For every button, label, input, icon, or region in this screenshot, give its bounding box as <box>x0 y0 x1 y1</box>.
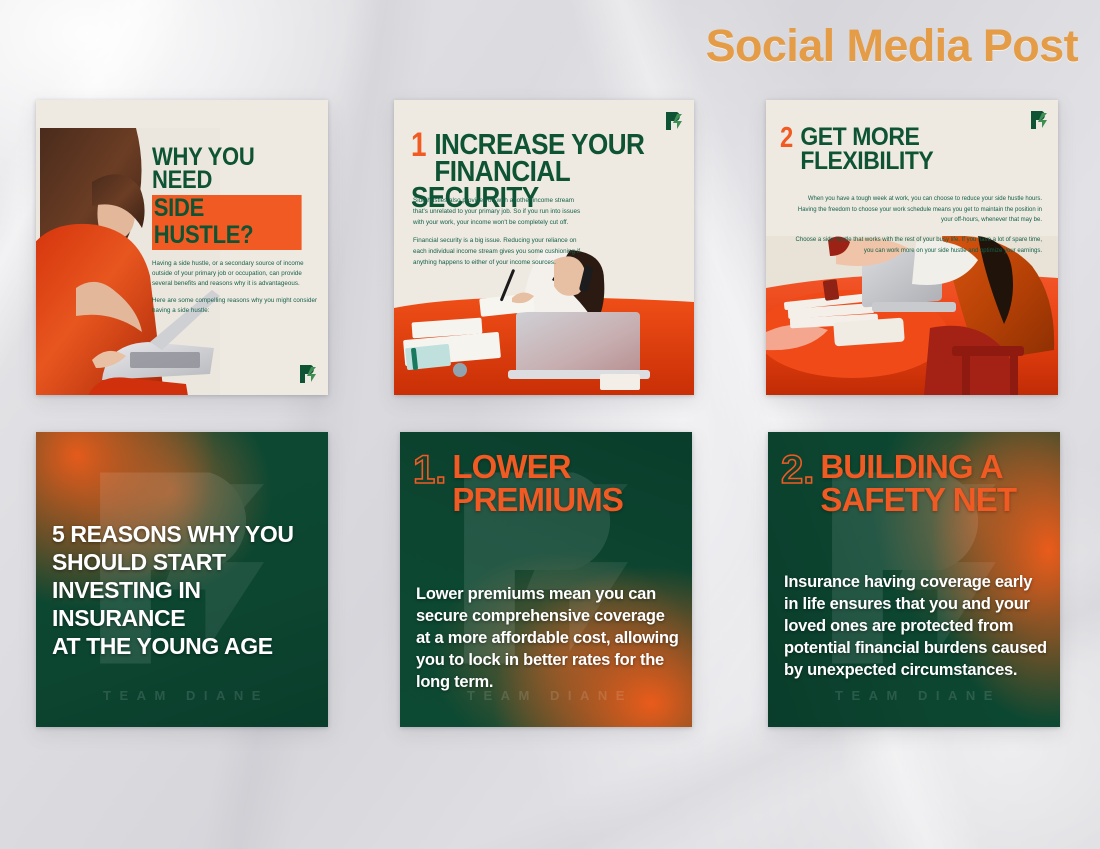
brand-watermark: TEAM DIANE <box>768 688 1060 703</box>
td-monogram-logo-icon <box>664 110 684 132</box>
heading-line-1: WHY YOU NEED <box>152 146 302 192</box>
card-title: LOWER PREMIUMS <box>413 450 680 516</box>
card-heading: WHY YOU NEED SIDE HUSTLE? Having a side … <box>152 146 322 316</box>
card-body: Lower premiums mean you can secure compr… <box>416 584 682 694</box>
heading-line-1: GET MORE FLEXIBILITY <box>780 126 1025 174</box>
body-paragraph: When you have a tough week at work, you … <box>792 194 1042 226</box>
body-paragraph: Having a side hustle, or a secondary sou… <box>152 259 322 289</box>
body-paragraph: Here are some compelling reasons why you… <box>152 296 322 316</box>
td-monogram-logo-icon <box>1029 109 1049 131</box>
card-number: 1. <box>413 452 446 489</box>
post-card-5-reasons-insurance[interactable]: 5 REASONS WHY YOU SHOULD START INVESTING… <box>36 432 328 727</box>
heading-line-2-highlighted: SIDE HUSTLE? <box>152 195 302 250</box>
card-heading: 1. LOWER PREMIUMS <box>413 450 680 516</box>
body-paragraph: Choose a side hustle that works with the… <box>792 235 1042 256</box>
post-card-building-a-safety-net[interactable]: 2. BUILDING A SAFETY NET Insurance havin… <box>768 432 1060 727</box>
card-title: BUILDING A SAFETY NET <box>781 450 1048 516</box>
body-paragraph: Side hustles also provide you with anoth… <box>413 196 588 228</box>
card-heading: 2. BUILDING A SAFETY NET <box>781 450 1048 516</box>
card-body: Side hustles also provide you with anoth… <box>413 196 588 269</box>
card-body: Having a side hustle, or a secondary sou… <box>152 259 322 316</box>
body-paragraph: Financial security is a big issue. Reduc… <box>413 236 588 268</box>
post-card-get-more-flexibility[interactable]: 2 GET MORE FLEXIBILITY When you have a t… <box>766 100 1058 395</box>
photo-woman-feet-up-red-desk <box>766 236 1058 395</box>
post-card-lower-premiums[interactable]: 1. LOWER PREMIUMS Lower premiums mean yo… <box>400 432 692 727</box>
td-monogram-logo-icon <box>298 363 318 385</box>
page-title: Social Media Post <box>706 20 1078 72</box>
card-title: 5 REASONS WHY YOU SHOULD START INVESTING… <box>52 520 318 660</box>
card-number: 2. <box>781 452 814 489</box>
card-heading: 2 GET MORE FLEXIBILITY <box>780 126 1046 174</box>
post-card-increase-financial-security[interactable]: 1 INCREASE YOUR FINANCIAL SECURITY Side … <box>394 100 694 395</box>
card-body: When you have a tough week at work, you … <box>792 194 1042 256</box>
post-card-why-you-need-side-hustle[interactable]: WHY YOU NEED SIDE HUSTLE? Having a side … <box>36 100 328 395</box>
brand-watermark: TEAM DIANE <box>36 688 328 703</box>
photo-woman-on-phone-red-desk <box>394 250 694 395</box>
heading-line-1: INCREASE YOUR <box>411 132 655 159</box>
card-body: Insurance having coverage early in life … <box>784 572 1050 682</box>
